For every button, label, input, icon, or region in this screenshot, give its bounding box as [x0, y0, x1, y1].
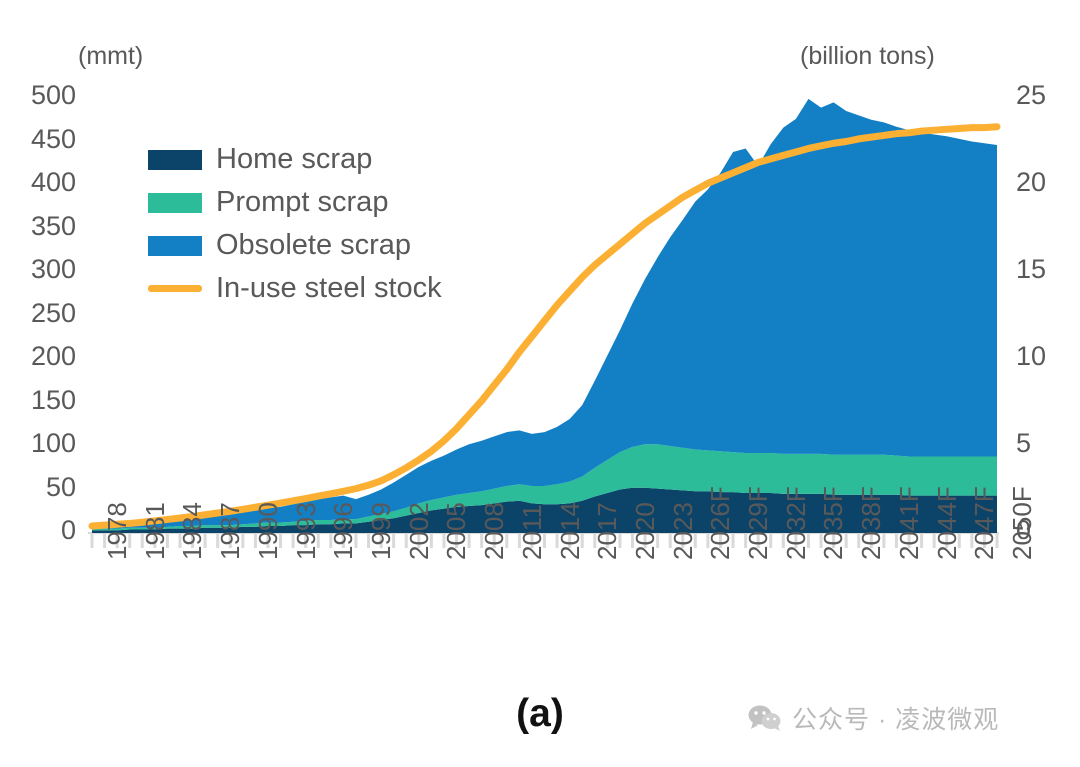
chart-plot-area: [0, 0, 1080, 767]
x-axis-tick-1999: 1999: [366, 502, 397, 560]
legend-label: Prompt scrap: [216, 186, 388, 219]
watermark-text: 公众号 · 凌波微观: [792, 700, 999, 736]
left-axis-tick-0: 0: [12, 515, 76, 546]
x-axis-tick-1987: 1987: [215, 502, 246, 560]
legend-label: Home scrap: [216, 143, 372, 176]
left-axis-tick-450: 450: [12, 124, 76, 155]
left-axis-tick-500: 500: [12, 80, 76, 111]
legend-label: Obsolete scrap: [216, 229, 411, 262]
legend-item[interactable]: Home scrap: [148, 138, 528, 181]
x-axis-tick-2023: 2023: [668, 502, 699, 560]
left-axis-tick-200: 200: [12, 341, 76, 372]
x-axis-tick-2008: 2008: [479, 502, 510, 560]
x-axis-tick-1990: 1990: [253, 502, 284, 560]
legend-item[interactable]: Obsolete scrap: [148, 224, 528, 267]
x-axis-tick-2038F: 2038F: [856, 486, 887, 560]
left-axis-tick-350: 350: [12, 211, 76, 242]
x-axis-tick-2014: 2014: [555, 502, 586, 560]
x-axis-tick-2041F: 2041F: [894, 486, 925, 560]
left-axis-unit-label: (mmt): [78, 42, 143, 71]
x-axis-tick-2002: 2002: [404, 502, 435, 560]
x-axis-tick-1981: 1981: [140, 502, 171, 560]
left-axis-tick-100: 100: [12, 428, 76, 459]
x-axis-tick-2032F: 2032F: [781, 486, 812, 560]
wechat-icon: [748, 704, 782, 732]
legend-label: In-use steel stock: [216, 272, 442, 305]
x-axis-tick-2035F: 2035F: [818, 486, 849, 560]
legend-swatch-obsolete-scrap: [148, 236, 202, 256]
x-axis-tick-2026F: 2026F: [705, 486, 736, 560]
right-axis-unit-label: (billion tons): [800, 42, 935, 71]
right-axis-tick-5: 5: [1016, 428, 1031, 459]
left-axis-tick-400: 400: [12, 167, 76, 198]
x-axis-tick-2011: 2011: [517, 504, 548, 560]
x-axis-tick-2017: 2017: [592, 502, 623, 560]
right-axis-tick-15: 15: [1016, 254, 1046, 285]
legend-swatch-home-scrap: [148, 150, 202, 170]
x-axis-tick-2050F: 2050F: [1007, 486, 1038, 560]
legend-swatch-prompt-scrap: [148, 193, 202, 213]
x-axis-tick-2005: 2005: [441, 502, 472, 560]
left-axis-tick-300: 300: [12, 254, 76, 285]
x-axis-tick-2044F: 2044F: [932, 486, 963, 560]
x-axis-tick-2029F: 2029F: [743, 486, 774, 560]
left-axis-tick-250: 250: [12, 298, 76, 329]
watermark: 公众号 · 凌波微观: [748, 700, 999, 736]
chart-legend: Home scrapPrompt scrapObsolete scrapIn-u…: [148, 138, 528, 310]
legend-swatch-in-use-steel-stock: [148, 285, 202, 292]
x-axis-tick-2047F: 2047F: [969, 486, 1000, 560]
x-axis-tick-1993: 1993: [291, 502, 322, 560]
left-axis-tick-50: 50: [12, 472, 76, 503]
right-axis-tick-25: 25: [1016, 80, 1046, 111]
legend-item[interactable]: Prompt scrap: [148, 181, 528, 224]
chart-figure: (mmt) (billion tons) 5004504003503002502…: [0, 0, 1080, 767]
x-axis-tick-1978: 1978: [102, 502, 133, 560]
right-axis-tick-20: 20: [1016, 167, 1046, 198]
x-axis-tick-2020: 2020: [630, 502, 661, 560]
left-axis-tick-150: 150: [12, 385, 76, 416]
x-axis-tick-1984: 1984: [177, 502, 208, 560]
legend-item[interactable]: In-use steel stock: [148, 267, 528, 310]
x-axis-tick-1996: 1996: [328, 502, 359, 560]
right-axis-tick-10: 10: [1016, 341, 1046, 372]
